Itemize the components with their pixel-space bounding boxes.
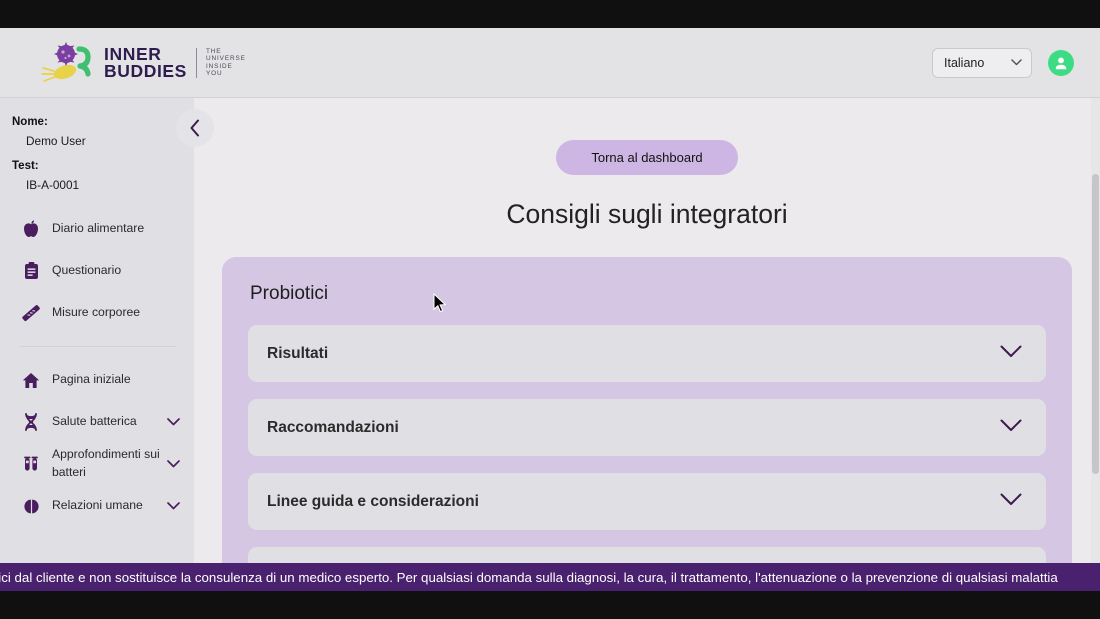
dna-icon — [20, 413, 42, 431]
sidebar-item-label: Salute batterica — [52, 413, 167, 431]
page-title: Consigli sugli integratori — [194, 199, 1100, 230]
chevron-down-icon[interactable] — [167, 458, 180, 470]
apple-icon — [20, 220, 42, 238]
screen: INNER BUDDIES THE UNIVERSE INSIDE YOU It… — [0, 0, 1100, 619]
chevron-left-icon — [189, 119, 201, 137]
test-tubes-icon — [20, 455, 42, 473]
page-scrollbar-thumb[interactable] — [1092, 174, 1099, 474]
page-scrollbar-track[interactable] — [1091, 98, 1100, 591]
sidebar-test-value: IB-A-0001 — [0, 172, 194, 192]
disclaimer-marquee-banner: diagnostici dal cliente e non sostituisc… — [0, 563, 1100, 591]
accordion-label: Linee guida e considerazioni — [267, 493, 479, 511]
sidebar-item-label: Relazioni umane — [52, 497, 167, 515]
sidebar-test-label: Test: — [0, 160, 194, 172]
logo-divider — [196, 48, 197, 78]
sidebar-divider — [20, 346, 176, 347]
sidebar-name-label: Nome: — [0, 116, 194, 128]
probiotics-card: Probiotici Risultati Raccomandazioni Lin… — [222, 257, 1072, 591]
chevron-down-icon[interactable] — [1000, 493, 1022, 511]
brain-icon — [20, 498, 42, 515]
logo-tagline-3: INSIDE — [206, 63, 246, 70]
sidebar-item-questionario[interactable]: Questionario — [0, 250, 194, 292]
app-header: INNER BUDDIES THE UNIVERSE INSIDE YOU It… — [0, 28, 1100, 98]
sidebar: Nome: Demo User Test: IB-A-0001 Diario a… — [0, 98, 194, 591]
person-icon — [1053, 55, 1069, 71]
browser-chrome-top — [0, 0, 1100, 28]
language-select[interactable]: Italiano — [932, 48, 1032, 78]
sidebar-item-misure-corporee[interactable]: Misure corporee — [0, 292, 194, 334]
sidebar-item-label: Pagina iniziale — [52, 371, 180, 389]
sidebar-item-label: Diario alimentare — [52, 220, 180, 238]
disclaimer-text: diagnostici dal cliente e non sostituisc… — [0, 570, 1058, 585]
header-actions: Italiano — [932, 48, 1074, 78]
ruler-icon — [20, 304, 42, 322]
accordion-raccomandazioni[interactable]: Raccomandazioni — [248, 399, 1046, 456]
sidebar-item-label: Misure corporee — [52, 304, 180, 322]
sidebar-item-salute-batterica[interactable]: Salute batterica — [0, 401, 194, 443]
inner-buddies-logo[interactable]: INNER BUDDIES THE UNIVERSE INSIDE YOU — [40, 40, 246, 86]
logo-tagline-4: YOU — [206, 70, 246, 77]
chevron-down-icon[interactable] — [1000, 419, 1022, 437]
chevron-down-icon[interactable] — [1000, 345, 1022, 363]
sidebar-item-label: Questionario — [52, 262, 180, 280]
sidebar-item-label: Approfondimenti sui batteri — [52, 446, 167, 481]
chevron-down-icon[interactable] — [167, 416, 180, 428]
chevron-down-icon[interactable] — [167, 500, 180, 512]
logo-word-buddies: BUDDIES — [104, 63, 187, 80]
back-to-dashboard-button[interactable]: Torna al dashboard — [556, 140, 738, 175]
browser-chrome-bottom — [0, 591, 1100, 619]
language-select-value: Italiano — [944, 56, 984, 70]
accordion-linee-guida-e-considerazioni[interactable]: Linee guida e considerazioni — [248, 473, 1046, 530]
sidebar-collapse-button[interactable] — [176, 109, 214, 147]
user-avatar[interactable] — [1048, 50, 1074, 76]
logo-word-inner: INNER — [104, 46, 187, 63]
sidebar-item-relazioni-umane[interactable]: Relazioni umane — [0, 485, 194, 527]
sidebar-item-pagina-iniziale[interactable]: Pagina iniziale — [0, 359, 194, 401]
sidebar-name-value: Demo User — [0, 128, 194, 148]
accordion-label: Risultati — [267, 345, 328, 363]
logo-tagline-2: UNIVERSE — [206, 55, 246, 62]
sidebar-item-diario-alimentare[interactable]: Diario alimentare — [0, 208, 194, 250]
page-viewport: INNER BUDDIES THE UNIVERSE INSIDE YOU It… — [0, 28, 1100, 591]
sidebar-item-approfondimenti-sui-batteri[interactable]: Approfondimenti sui batteri — [0, 443, 194, 485]
main-content: Torna al dashboard Consigli sugli integr… — [194, 98, 1100, 591]
home-icon — [20, 372, 42, 389]
card-title: Probiotici — [248, 275, 1046, 325]
chevron-down-icon — [1011, 57, 1022, 69]
accordion-risultati[interactable]: Risultati — [248, 325, 1046, 382]
clipboard-icon — [20, 262, 42, 280]
logo-bacteria-icon — [40, 40, 102, 86]
logo-tagline-1: THE — [206, 48, 246, 55]
accordion-label: Raccomandazioni — [267, 419, 399, 437]
